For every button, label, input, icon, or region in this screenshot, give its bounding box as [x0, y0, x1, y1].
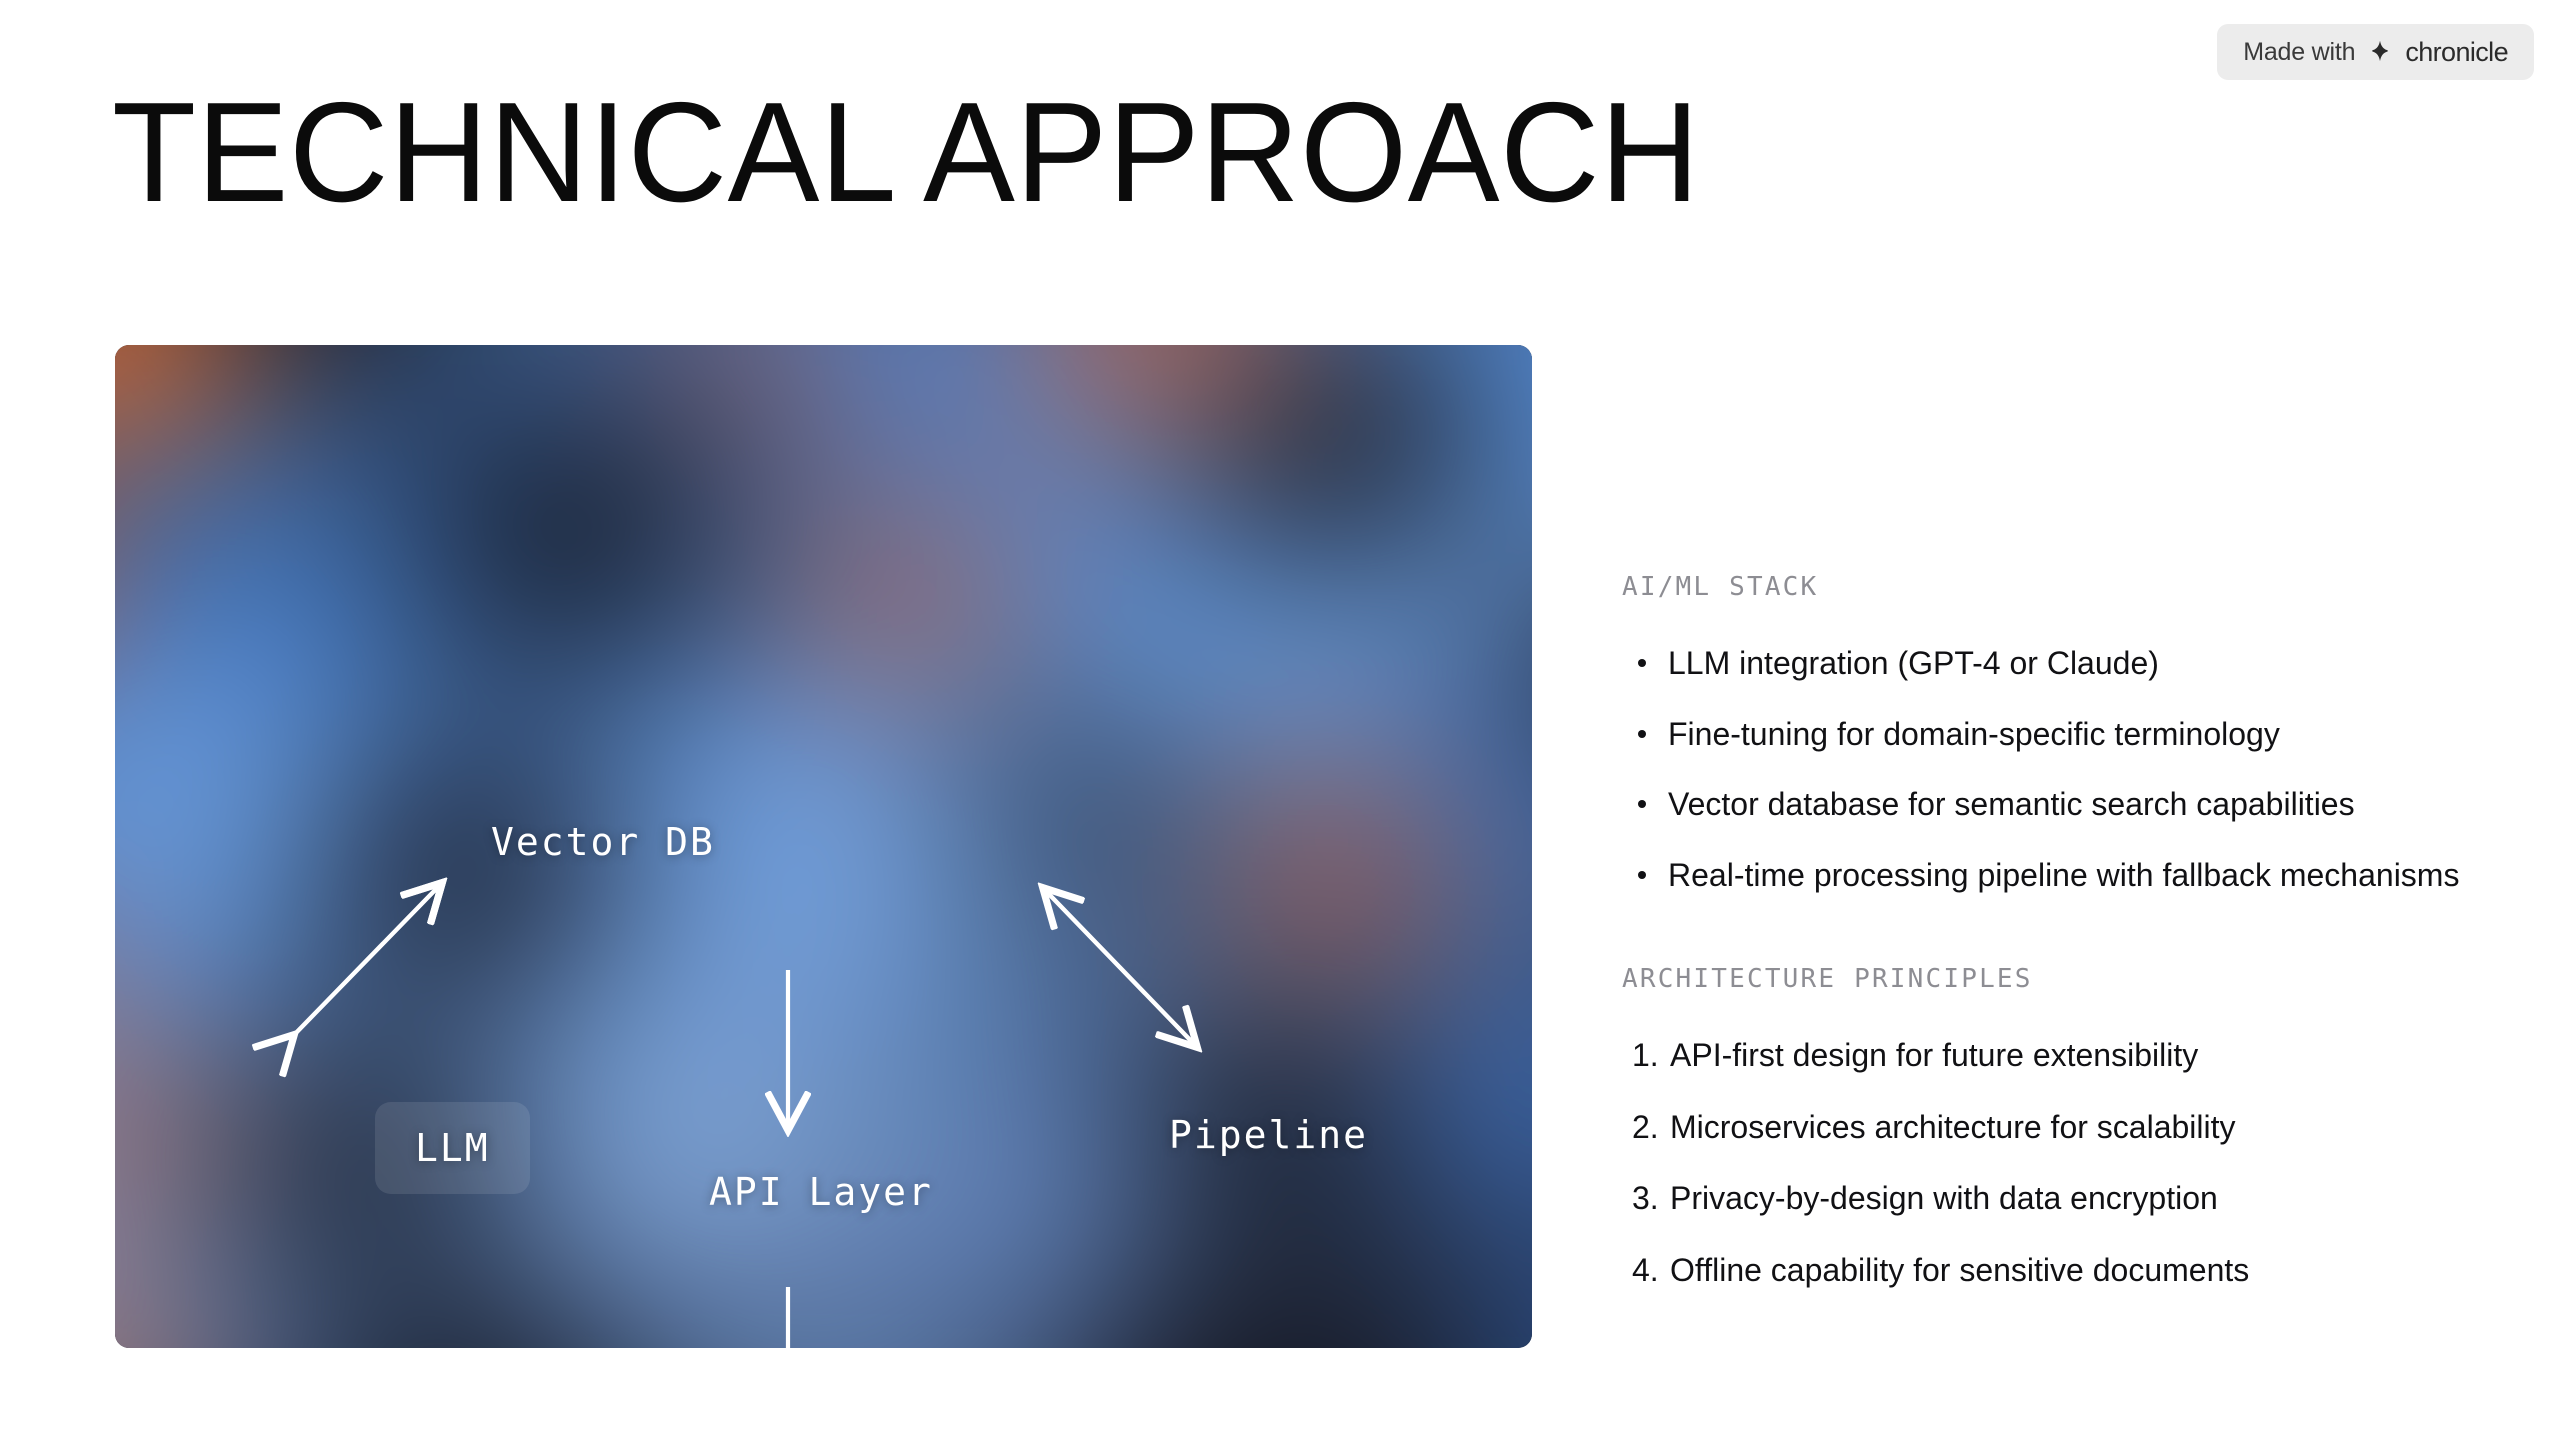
ai-ml-stack-list: LLM integration (GPT-4 or Claude) Fine-t… — [1622, 642, 2492, 896]
diagram-node-vector-db[interactable]: Vector DB — [491, 820, 715, 864]
slide: Made with chronicle TECHNICAL APPROACH — [0, 0, 2560, 1440]
content-column: AI/ML STACK LLM integration (GPT-4 or Cl… — [1622, 572, 2492, 1291]
section-architecture-principles: ARCHITECTURE PRINCIPLES API-first design… — [1622, 964, 2492, 1291]
section-label-ai-ml-stack: AI/ML STACK — [1622, 572, 2492, 602]
architecture-diagram: Vector DB LLM Pipeline API Layer Microse… — [115, 345, 1532, 1348]
architecture-principles-list: API-first design for future extensibilit… — [1622, 1034, 2492, 1291]
list-item: Privacy-by-design with data encryption — [1622, 1177, 2492, 1220]
list-item: Offline capability for sensitive documen… — [1622, 1249, 2492, 1292]
section-label-architecture-principles: ARCHITECTURE PRINCIPLES — [1622, 964, 2492, 994]
list-item: Microservices architecture for scalabili… — [1622, 1106, 2492, 1149]
badge-brand-label: chronicle — [2405, 37, 2508, 68]
list-item: Vector database for semantic search capa… — [1622, 783, 2492, 826]
diagram-node-api-layer[interactable]: API Layer — [709, 1170, 933, 1214]
diagram-node-llm[interactable]: LLM — [375, 1102, 530, 1194]
section-ai-ml-stack: AI/ML STACK LLM integration (GPT-4 or Cl… — [1622, 572, 2492, 896]
badge-prefix-label: Made with — [2243, 38, 2355, 67]
list-item: LLM integration (GPT-4 or Claude) — [1622, 642, 2492, 685]
list-item: API-first design for future extensibilit… — [1622, 1034, 2492, 1077]
list-item: Fine-tuning for domain-specific terminol… — [1622, 713, 2492, 756]
page-title: TECHNICAL APPROACH — [112, 82, 1700, 224]
list-item: Real-time processing pipeline with fallb… — [1622, 854, 2492, 897]
diagram-node-pipeline[interactable]: Pipeline — [1169, 1113, 1368, 1157]
sparkle-icon — [2367, 39, 2393, 65]
made-with-chronicle-badge[interactable]: Made with chronicle — [2217, 24, 2534, 80]
